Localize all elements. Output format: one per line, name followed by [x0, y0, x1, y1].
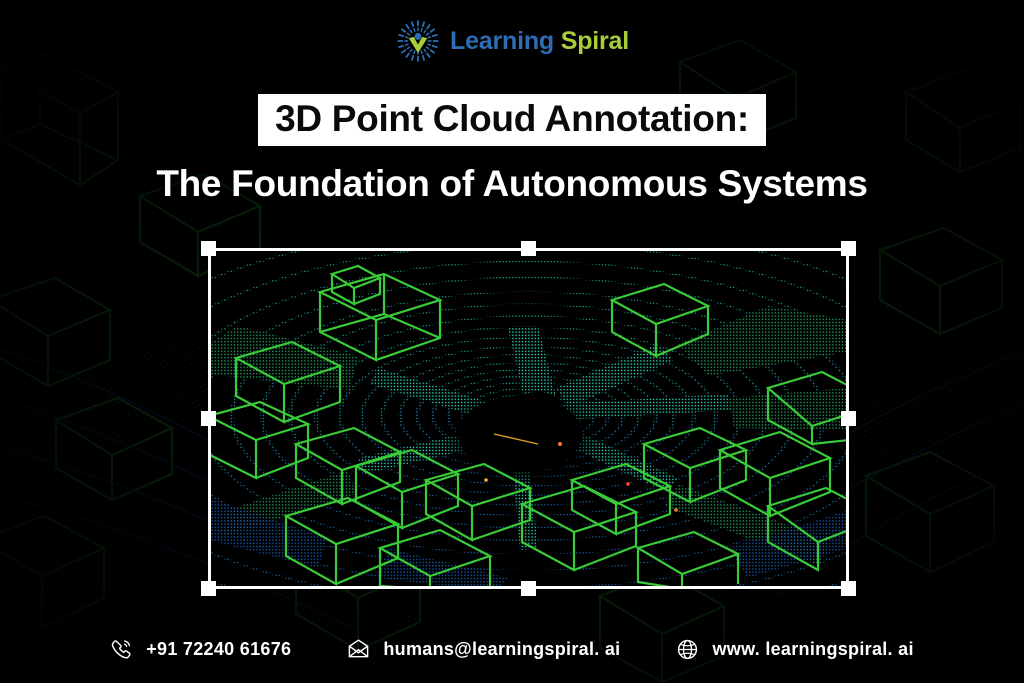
resize-handle-middle-right[interactable]: [841, 411, 856, 426]
brand-name-part1: Learning: [450, 27, 554, 55]
poster-canvas: Learning Spiral 3D Point Cloud Annotatio…: [0, 0, 1024, 683]
brand-logo: Learning Spiral: [0, 18, 1024, 64]
resize-handle-top-left[interactable]: [201, 241, 216, 256]
contact-phone-text: +91 72240 61676: [146, 639, 291, 660]
contact-bar: +91 72240 61676 humans@learningspiral. a…: [0, 638, 1024, 661]
contact-website[interactable]: www. learningspiral. ai: [676, 638, 913, 661]
resize-handle-bottom-middle[interactable]: [521, 581, 536, 596]
brand-name: Learning Spiral: [450, 27, 629, 56]
resize-handle-middle-left[interactable]: [201, 411, 216, 426]
selection-frame: [208, 248, 849, 589]
globe-icon: [676, 638, 699, 661]
contact-email[interactable]: humans@learningspiral. ai: [347, 638, 620, 661]
page-title: 3D Point Cloud Annotation: The Foundatio…: [0, 94, 1024, 205]
brand-name-part2: Spiral: [561, 27, 629, 55]
headline-line-2: The Foundation of Autonomous Systems: [0, 163, 1024, 205]
contact-website-text: www. learningspiral. ai: [712, 639, 913, 660]
hero-image-selection[interactable]: [208, 248, 849, 589]
resize-handle-bottom-right[interactable]: [841, 581, 856, 596]
resize-handle-top-right[interactable]: [841, 241, 856, 256]
spiral-burst-logo-icon: [395, 18, 441, 64]
envelope-icon: [347, 638, 370, 661]
phone-icon: [110, 638, 133, 661]
resize-handle-bottom-left[interactable]: [201, 581, 216, 596]
contact-email-text: humans@learningspiral. ai: [383, 639, 620, 660]
resize-handle-top-middle[interactable]: [521, 241, 536, 256]
contact-phone[interactable]: +91 72240 61676: [110, 638, 291, 661]
headline-line-1: 3D Point Cloud Annotation:: [258, 94, 766, 146]
lidar-point-cloud-annotation-preview: [208, 248, 849, 589]
